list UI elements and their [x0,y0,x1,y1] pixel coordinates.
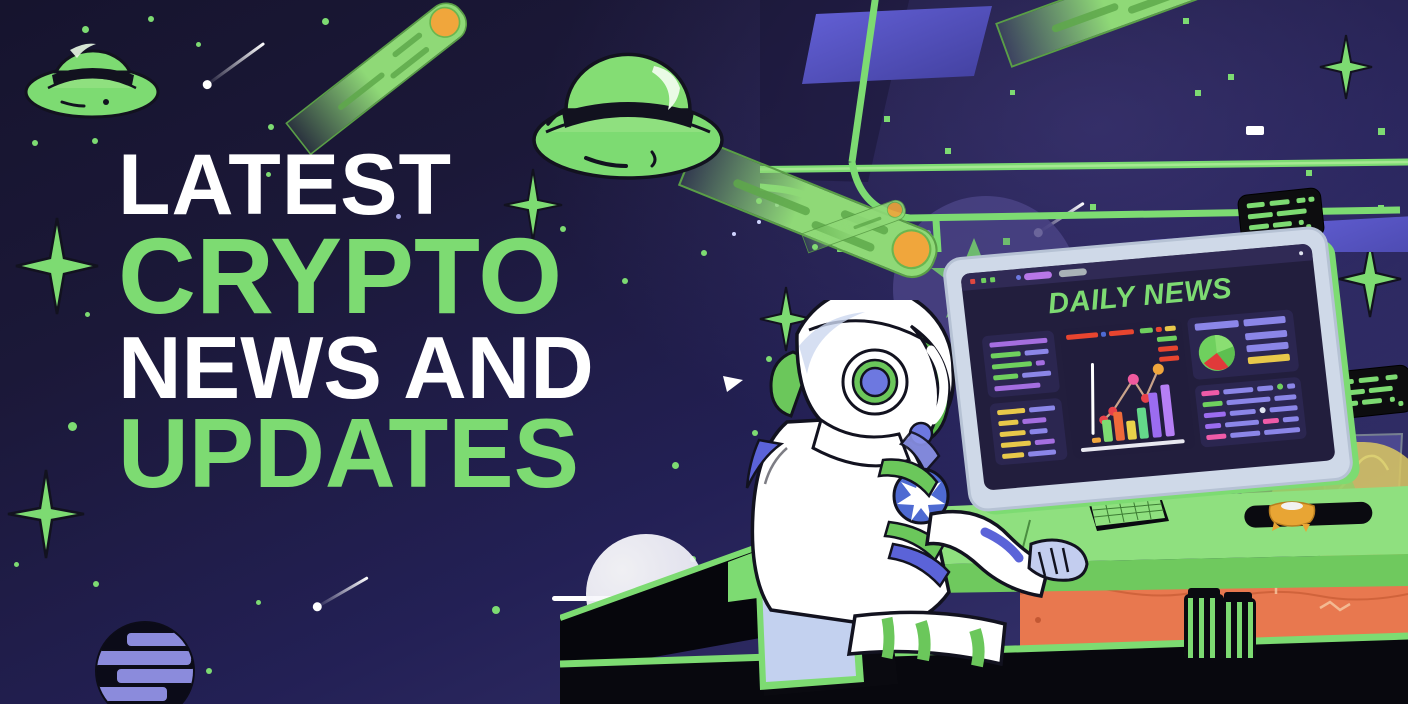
headline-line-2: CRYPTO [118,228,594,323]
close-dot-icon[interactable] [970,279,976,284]
shooting-star-icon [315,576,368,609]
shooting-star-icon [205,42,265,87]
menu-dot-icon[interactable] [1299,251,1303,255]
headline-line-4: UPDATES [118,410,594,496]
address-bar[interactable] [1024,271,1053,280]
canisters [1178,584,1262,668]
headline-line-3: NEWS AND [118,329,594,406]
banner-canvas: DAILY NEWS [0,0,1408,704]
rows-panel [1194,377,1307,448]
pie-chart [1195,331,1239,374]
minimize-dot-icon[interactable] [981,278,987,283]
sparkle-icon [6,468,86,560]
page-title-block: LATEST CRYPTO NEWS AND UPDATES [118,148,594,496]
headline-line-1: LATEST [118,148,594,224]
monitor[interactable]: DAILY NEWS [958,244,1338,494]
tab-favicon-icon [1016,275,1022,280]
chart-panel [1059,319,1195,459]
left-panel-top [981,330,1060,398]
left-panel-bottom [989,398,1068,466]
sparkle-icon [14,216,100,316]
monitor-screen[interactable]: DAILY NEWS [960,243,1335,490]
comet-top-left [285,0,474,155]
coffee-cup [1262,498,1322,534]
maximize-dot-icon[interactable] [990,277,996,282]
pie-panel [1187,309,1300,380]
bar-chart [1084,379,1186,443]
ufo-small-left [22,28,162,128]
planet-blue-striped [95,621,195,704]
tab-pill[interactable] [1058,268,1087,277]
